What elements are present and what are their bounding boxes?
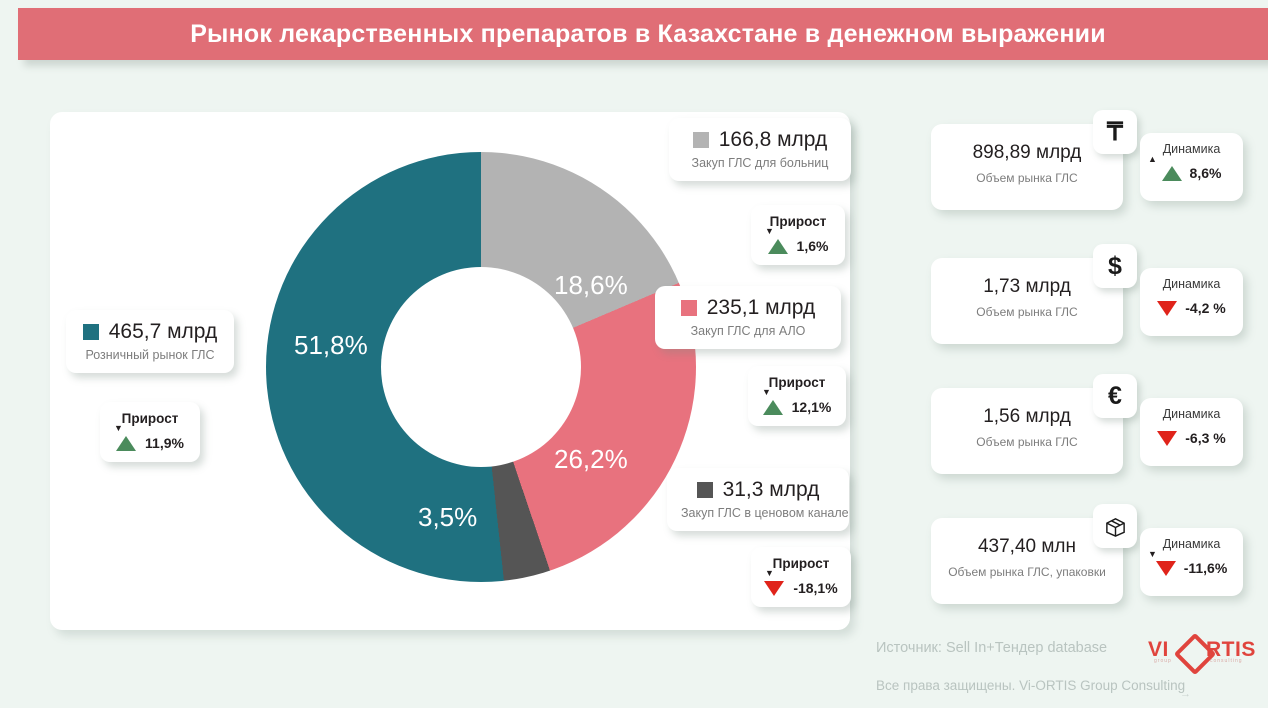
growth-value: -18,1%: [793, 580, 837, 596]
chevron-down-icon[interactable]: ▼: [1148, 551, 1243, 559]
legend-swatch-alo: [681, 300, 697, 316]
page-title: Рынок лекарственных препаратов в Казахст…: [180, 20, 1106, 49]
value-subtitle: Закуп ГЛС для АЛО: [669, 324, 827, 338]
package-box-glyph: [1104, 515, 1127, 538]
dynamic-card-usd[interactable]: Динамика -4,2 %: [1140, 268, 1243, 336]
dynamic-card-tenge[interactable]: Динамика ▲ 8,6%: [1140, 133, 1243, 201]
sort-caret-icon[interactable]: [1148, 421, 1243, 429]
kpi-amount: 1,56 млрд: [931, 406, 1123, 428]
value-card-alo[interactable]: 235,1 млрд Закуп ГЛС для АЛО: [655, 286, 841, 349]
slice-label-hospital: 18,6%: [554, 270, 628, 301]
kpi-content: 1,56 млрд Объем рынка ГЛС: [931, 406, 1123, 449]
kpi-content: 1,73 млрд Объем рынка ГЛС: [931, 276, 1123, 319]
logo-text-group: group: [1154, 658, 1172, 664]
kpi-subtitle: Объем рынка ГЛС: [931, 435, 1123, 449]
viortis-logo: VI RTIS group consulting: [1148, 636, 1266, 670]
logo-text-consulting: consulting: [1210, 658, 1243, 664]
chevron-down-icon[interactable]: ▼: [765, 571, 839, 579]
growth-row: 1,6%: [763, 238, 833, 254]
triangle-down-icon: [1157, 301, 1177, 316]
dynamic-value: 8,6%: [1190, 165, 1222, 181]
sort-caret-icon[interactable]: [1148, 291, 1243, 299]
value-card-hospitals[interactable]: 166,8 млрд Закуп ГЛС для больниц: [669, 118, 851, 181]
growth-card-hospitals[interactable]: Прирост ▼ 1,6%: [751, 205, 845, 265]
growth-title: Прирост: [112, 411, 188, 426]
kpi-card-eur[interactable]: € 1,56 млрд Объем рынка ГЛС: [931, 388, 1123, 474]
dynamic-row: -6,3 %: [1140, 430, 1243, 446]
value-card-price-channel[interactable]: 31,3 млрд Закуп ГЛС в ценовом канале: [667, 468, 849, 531]
kpi-amount: 1,73 млрд: [931, 276, 1123, 298]
dynamic-row: 8,6%: [1140, 165, 1243, 181]
value-amount: 166,8 млрд: [719, 128, 828, 152]
legend-swatch-hospitals: [693, 132, 709, 148]
value-subtitle: Закуп ГЛС в ценовом канале: [681, 506, 835, 520]
value-row: 166,8 млрд: [683, 128, 837, 152]
triangle-down-icon: [1157, 431, 1177, 446]
dynamic-value: -6,3 %: [1185, 430, 1225, 446]
dynamic-row: -4,2 %: [1140, 300, 1243, 316]
growth-title: Прирост: [763, 214, 833, 229]
triangle-down-icon: [1156, 561, 1176, 576]
kpi-subtitle: Объем рынка ГЛС: [931, 305, 1123, 319]
slice-label-alo: 26,2%: [554, 444, 628, 475]
growth-value: 11,9%: [145, 435, 184, 451]
kpi-subtitle: Объем рынка ГЛС: [931, 171, 1123, 185]
growth-card-alo[interactable]: Прирост ▼ 12,1%: [748, 366, 846, 426]
growth-row: -18,1%: [763, 580, 839, 596]
kpi-amount: 898,89 млрд: [931, 142, 1123, 164]
chevron-up-icon[interactable]: ▲: [1148, 156, 1243, 164]
donut-chart[interactable]: 18,6% 26,2% 3,5% 51,8%: [266, 152, 696, 582]
triangle-up-icon: [768, 239, 788, 254]
value-card-retail[interactable]: 465,7 млрд Розничный рынок ГЛС: [66, 310, 234, 373]
value-subtitle: Розничный рынок ГЛС: [80, 348, 220, 362]
kpi-content: 898,89 млрд Объем рынка ГЛС: [931, 142, 1123, 185]
value-amount: 31,3 млрд: [723, 478, 820, 502]
growth-title: Прирост: [763, 556, 839, 571]
slice-label-price-channel: 3,5%: [418, 502, 477, 533]
growth-title: Прирост: [760, 375, 834, 390]
dynamic-card-eur[interactable]: Динамика -6,3 %: [1140, 398, 1243, 466]
value-amount: 465,7 млрд: [109, 320, 218, 344]
footer-rights: Все права защищены. Vi-ORTIS Group Consu…: [876, 678, 1185, 693]
chevron-down-icon[interactable]: ▼: [765, 229, 833, 237]
kpi-amount: 437,40 млн: [931, 536, 1123, 558]
chevron-down-icon[interactable]: ▼: [762, 390, 834, 398]
growth-card-retail[interactable]: Прирост ▼ 11,9%: [100, 402, 200, 462]
growth-card-price-channel[interactable]: Прирост ▼ -18,1%: [751, 547, 851, 607]
triangle-up-icon: [116, 436, 136, 451]
kpi-card-usd[interactable]: $ 1,73 млрд Объем рынка ГЛС: [931, 258, 1123, 344]
triangle-up-icon: [1162, 166, 1182, 181]
value-amount: 235,1 млрд: [707, 296, 816, 320]
arrow-right-icon[interactable]: →: [1180, 688, 1191, 700]
slice-label-retail: 51,8%: [294, 330, 368, 361]
kpi-card-tenge[interactable]: ₸ 898,89 млрд Объем рынка ГЛС: [931, 124, 1123, 210]
dynamic-row: -11,6%: [1140, 560, 1243, 576]
growth-value: 12,1%: [792, 399, 832, 415]
dynamic-title: Динамика: [1140, 277, 1243, 291]
header-bar: Рынок лекарственных препаратов в Казахст…: [18, 8, 1268, 60]
growth-row: 12,1%: [760, 399, 834, 415]
value-row: 235,1 млрд: [669, 296, 827, 320]
triangle-up-icon: [763, 400, 783, 415]
kpi-content: 437,40 млн Объем рынка ГЛС, упаковки: [931, 536, 1123, 579]
legend-swatch-retail: [83, 324, 99, 340]
value-row: 465,7 млрд: [80, 320, 220, 344]
kpi-card-packages[interactable]: 437,40 млн Объем рынка ГЛС, упаковки: [931, 518, 1123, 604]
legend-swatch-price-channel: [697, 482, 713, 498]
footer-source: Источник: Sell In+Тендер database: [876, 640, 1107, 656]
dynamic-title: Динамика: [1140, 407, 1243, 421]
dynamic-card-packages[interactable]: Динамика ▼ -11,6%: [1140, 528, 1243, 596]
value-row: 31,3 млрд: [681, 478, 835, 502]
growth-value: 1,6%: [797, 238, 829, 254]
chevron-down-icon[interactable]: ▼: [114, 426, 188, 434]
kpi-subtitle: Объем рынка ГЛС, упаковки: [931, 565, 1123, 579]
dynamic-value: -11,6%: [1184, 560, 1228, 576]
value-subtitle: Закуп ГЛС для больниц: [683, 156, 837, 170]
dynamic-value: -4,2 %: [1185, 300, 1225, 316]
triangle-down-icon: [764, 581, 784, 596]
donut-hole: [381, 267, 581, 467]
growth-row: 11,9%: [112, 435, 188, 451]
